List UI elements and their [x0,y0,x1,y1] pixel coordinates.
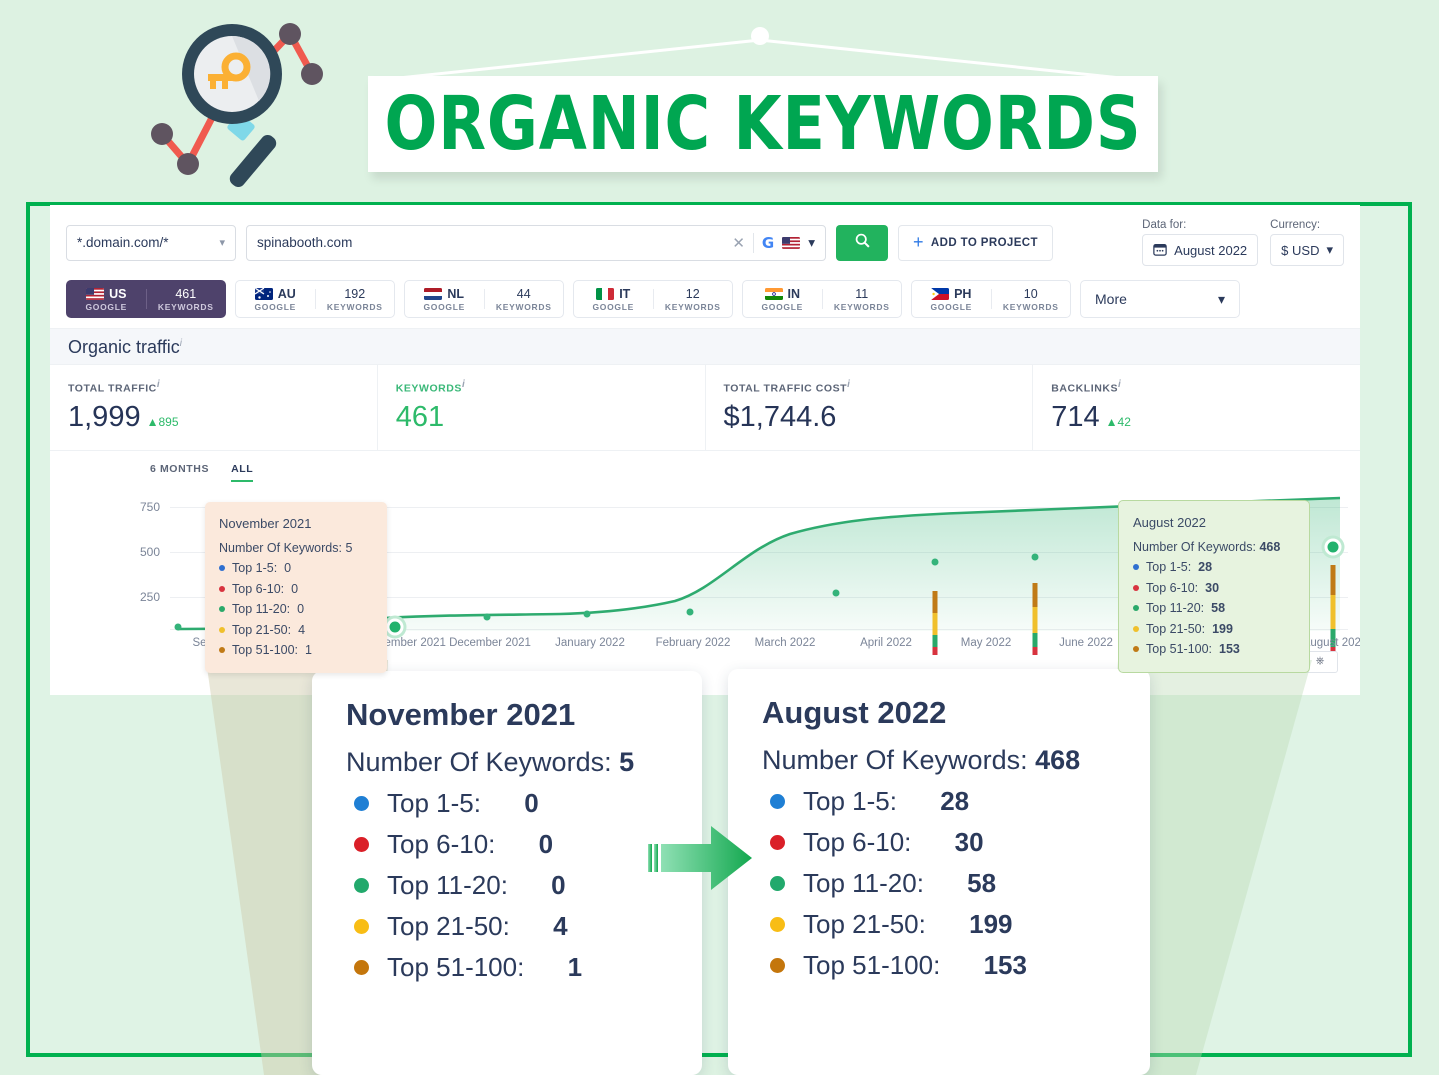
row-label: Top 51-100: [803,950,940,981]
row-label: Top 6-10: [1146,578,1198,599]
legend-dot-top-51-100 [219,647,225,653]
legend-dot-top-51-100 [770,958,785,973]
row-value: 4 [553,911,567,942]
data-point[interactable] [175,623,182,630]
callout-row: Top 1-5: 28 [770,786,1120,817]
row-label: Top 51-100: [1146,639,1212,660]
close-icon[interactable]: ✕ [732,234,745,252]
currency-value: $ USD [1281,243,1319,258]
callout-keywords-value: 468 [1035,745,1080,775]
country-code: IN [788,287,801,301]
more-label: More [1095,291,1127,307]
currency-select[interactable]: $ USD ▾ [1270,234,1344,266]
row-value: 0 [297,599,304,620]
row-value: 30 [1205,578,1219,599]
metric-card-backlinks: BACKLINKSi 714▲42 [1033,365,1360,450]
us-flag-icon [782,237,800,249]
add-to-project-label: ADD TO PROJECT [931,237,1038,249]
y-tick-250: 250 [128,590,160,604]
legend-dot-top-51-100 [354,960,369,975]
callout-card-november-2021: November 2021 Number Of Keywords: 5 Top … [312,671,702,1075]
row-label: Top 1-5: [1146,557,1191,578]
bar-segment [933,613,938,635]
data-point[interactable] [932,558,939,565]
row-label: Top 1-5: [803,786,897,817]
callout-row: Top 6-10: 0 [354,829,672,860]
tooltip-row: Top 11-20:0 [219,599,373,620]
legend-dot-top-6-10 [770,835,785,850]
country-code: NL [447,287,464,301]
x-label: June 2022 [1059,637,1113,649]
callout-month: August 2022 [762,695,1120,731]
data-for-label: Data for: [1142,219,1258,231]
search-toolbar: *.domain.com/* ▾ spinabooth.com ✕ G ▾ [50,205,1360,276]
row-value: 0 [524,788,538,819]
keyword-count: 192 [344,287,365,301]
row-value: 4 [298,620,305,641]
callout-row: Top 6-10: 30 [770,827,1120,858]
callout-month: November 2021 [346,697,672,733]
callout-row: Top 51-100: 153 [770,950,1120,981]
metric-label-text: TOTAL TRAFFIC [68,383,157,395]
tooltip-row: Top 51-100:1 [219,640,373,661]
engine-caption: GOOGLE [761,302,803,312]
metric-label-text: BACKLINKS [1051,383,1118,395]
tooltip-keywords-label: Number Of Keywords: [1133,540,1256,554]
engine-caption: GOOGLE [423,302,465,312]
row-label: Top 1-5: [387,788,481,819]
chart-range-tabs: 6 MONTHS ALL [50,461,1360,482]
metric-cards: TOTAL TRAFFICi 1,999▲895 KEYWORDSi 461 T… [50,364,1360,451]
legend-dot-top-6-10 [219,586,225,592]
data-point[interactable] [833,589,840,596]
keywords-caption: KEYWORDS [665,302,721,312]
metric-value-row: 1,999▲895 [68,401,359,434]
tooltip-row: Top 1-5:0 [219,558,373,579]
metric-card-total-traffic: TOTAL TRAFFICi 1,999▲895 [50,365,378,450]
country-tab-nl[interactable]: NL GOOGLE 44 KEYWORDS [404,280,564,318]
plus-icon: + [913,232,924,253]
metric-label: TOTAL TRAFFICi [68,379,359,395]
keyword-count: 11 [855,287,868,301]
callout-row: Top 51-100: 1 [354,952,672,983]
row-label: Top 21-50: [232,620,291,641]
metric-value: $1,744.6 [724,401,1015,434]
calendar-icon [1153,242,1167,259]
callout-row: Top 11-20: 58 [770,868,1120,899]
highlighted-data-point-aug-2022[interactable] [1325,538,1342,555]
row-label: Top 6-10: [232,579,284,600]
callout-row: Top 1-5: 0 [354,788,672,819]
metric-card-total-traffic-cost: TOTAL TRAFFIC COSTi $1,744.6 [706,365,1034,450]
y-tick-500: 500 [128,545,160,559]
legend-dot-top-11-20 [770,876,785,891]
tab-6-months[interactable]: 6 MONTHS [150,463,209,482]
metric-label: TOTAL TRAFFIC COSTi [724,379,1015,395]
tooltip-row: Top 6-10:0 [219,579,373,600]
metric-label-text: KEYWORDS [396,383,462,395]
row-label: Top 11-20: [803,868,924,899]
legend-dot-top-1-5 [354,796,369,811]
tab-all[interactable]: ALL [231,463,253,482]
row-label: Top 21-50: [1146,619,1205,640]
data-for-picker[interactable]: August 2022 [1142,234,1258,266]
metric-delta: ▲895 [147,415,179,429]
callout-keywords-label: Number Of Keywords: [762,745,1028,775]
tooltip-row: Top 21-50:199 [1133,619,1295,640]
keywords-caption: KEYWORDS [496,302,552,312]
legend-dot-top-11-20 [219,606,225,612]
right-arrow-icon [648,818,756,898]
page-title: ORGANIC KEYWORDS [431,76,1095,172]
data-point[interactable] [687,608,694,615]
x-label: August 2022 [1303,637,1360,649]
domain-input[interactable]: spinabooth.com [257,235,724,250]
country-tab-it[interactable]: IT GOOGLE 12 KEYWORDS [573,280,733,318]
metric-value-row: 714▲42 [1051,401,1342,434]
row-value: 1 [305,640,312,661]
keyword-count: 12 [686,287,700,301]
legend-dot-top-6-10 [1133,585,1139,591]
row-label: Top 21-50: [803,909,926,940]
chevron-down-icon: ▾ [1326,242,1333,258]
highlighted-data-point-nov-2021[interactable] [387,618,404,635]
data-point[interactable] [1032,553,1039,560]
legend-dot-top-21-50 [770,917,785,932]
data-point[interactable] [484,613,491,620]
row-label: Top 21-50: [387,911,510,942]
bar-segment [933,591,938,613]
row-value: 0 [284,558,291,579]
metric-delta-value: 895 [158,415,178,429]
callout-keywords-label: Number Of Keywords: [346,747,612,777]
chevron-down-icon: ▾ [1218,291,1225,308]
tooltip-row: Top 11-20:58 [1133,598,1295,619]
info-icon[interactable]: i [157,379,160,390]
metric-label: KEYWORDSi [396,379,687,395]
country-tab-ph[interactable]: PH GOOGLE 10 KEYWORDS [911,280,1071,318]
row-value: 153 [984,950,1027,981]
metric-value: 461 [396,401,687,434]
chevron-down-icon: ▾ [219,236,225,249]
row-value: 58 [967,868,996,899]
currency-label: Currency: [1270,219,1344,231]
country-tab-in[interactable]: IN GOOGLE 11 KEYWORDS [742,280,902,318]
legend-dot-top-11-20 [354,878,369,893]
country-tab-au[interactable]: AU GOOGLE 192 KEYWORDS [235,280,395,318]
x-label: January 2022 [555,637,625,649]
metric-label-text: TOTAL TRAFFIC COST [724,383,848,395]
country-code: IT [619,287,630,301]
bar-segment [1331,595,1336,629]
metric-delta-value: 42 [1118,415,1131,429]
metric-value: 714 [1051,401,1099,433]
engine-caption: GOOGLE [592,302,634,312]
search-icon [854,232,871,254]
callout-row: Top 21-50: 199 [770,909,1120,940]
au-flag-icon [255,288,273,300]
tooltip-keywords-value: 468 [1259,540,1280,554]
google-icon: G [762,234,774,252]
tooltip-keywords-label: Number Of Keywords: [219,541,342,555]
info-icon[interactable]: i [1118,379,1121,390]
tooltip-row: Top 6-10:30 [1133,578,1295,599]
info-icon[interactable]: i [180,338,182,349]
row-label: Top 11-20: [232,599,290,620]
tooltip-month: August 2022 [1133,513,1295,534]
it-flag-icon [596,288,614,300]
metric-card-keywords: KEYWORDSi 461 [378,365,706,450]
domain-scope-value: *.domain.com/* [77,235,169,250]
add-to-project-button[interactable]: + ADD TO PROJECT [898,225,1053,261]
section-title: Organic traffic [68,337,180,357]
keywords-caption: KEYWORDS [158,302,214,312]
y-tick-750: 750 [128,500,160,514]
row-value: 28 [1198,557,1212,578]
x-label: December 2021 [449,637,531,649]
row-label: Top 51-100: [387,952,524,983]
data-point[interactable] [584,610,591,617]
toolbar-right-meta: Data for: August 2022 Currency: $ USD ▾ [1142,219,1344,266]
tooltip-row: Top 51-100:153 [1133,639,1295,660]
info-icon[interactable]: i [462,379,465,390]
row-label: Top 51-100: [232,640,298,661]
row-label: Top 11-20: [1146,598,1204,619]
domain-input-group[interactable]: spinabooth.com ✕ G ▾ [246,225,826,261]
country-code: PH [954,287,971,301]
chevron-down-icon[interactable]: ▾ [808,235,815,251]
legend-dot-top-1-5 [219,565,225,571]
engine-caption: GOOGLE [254,302,296,312]
row-value: 28 [940,786,969,817]
engine-caption: GOOGLE [930,302,972,312]
row-value: 153 [1219,639,1240,660]
row-value: 0 [539,829,553,860]
nl-flag-icon [424,288,442,300]
country-code: AU [278,287,296,301]
row-value: 0 [551,870,565,901]
section-header: Organic traffici [50,328,1360,364]
row-label: Top 1-5: [232,558,277,579]
bar-segment [1033,607,1038,633]
legend-dot-top-51-100 [1133,646,1139,652]
banner: ORGANIC KEYWORDS [368,76,1158,172]
data-for-value: August 2022 [1174,243,1247,258]
keywords-caption: KEYWORDS [834,302,890,312]
keywords-caption: KEYWORDS [327,302,383,312]
metric-value: 1,999 [68,401,141,433]
callout-row: Top 21-50: 4 [354,911,672,942]
x-label: April 2022 [860,637,912,649]
keyword-count: 461 [175,287,196,301]
chart-tooltip-november-2021: November 2021 Number Of Keywords: 5 Top … [205,502,387,673]
bar-segment [1033,583,1038,607]
row-value: 199 [969,909,1012,940]
country-tabs: US GOOGLE 461 KEYWORDS AU GOOGLE 192 KEY… [50,276,1360,328]
row-value: 58 [1211,598,1225,619]
x-label: March 2022 [755,637,816,649]
us-flag-icon [86,288,104,300]
row-value: 0 [291,579,298,600]
x-label: May 2022 [961,637,1012,649]
x-label: February 2022 [656,637,731,649]
callout-keywords: Number Of Keywords: 468 [762,745,1120,776]
tooltip-keywords: Number Of Keywords: 5 [219,538,373,559]
in-flag-icon [765,288,783,300]
magnifying-glass-key-icon [150,12,330,187]
currency-group: Currency: $ USD ▾ [1270,219,1344,266]
more-countries-select[interactable]: More ▾ [1080,280,1240,318]
tooltip-month: November 2021 [219,514,373,535]
tooltip-row: Top 1-5:28 [1133,557,1295,578]
row-label: Top 11-20: [387,870,508,901]
legend-dot-top-11-20 [1133,605,1139,611]
legend-dot-top-1-5 [770,794,785,809]
tooltip-keywords-value: 5 [345,541,352,555]
callout-row: Top 11-20: 0 [354,870,672,901]
callout-card-august-2022: August 2022 Number Of Keywords: 468 Top … [728,669,1150,1075]
country-tab-us[interactable]: US GOOGLE 461 KEYWORDS [66,280,226,318]
row-value: 199 [1212,619,1233,640]
country-code: US [109,287,126,301]
info-icon[interactable]: i [847,379,850,390]
legend-dot-top-21-50 [219,627,225,633]
keywords-caption: KEYWORDS [1003,302,1059,312]
tooltip-keywords: Number Of Keywords: 468 [1133,537,1295,558]
ph-flag-icon [931,288,949,300]
callout-keywords: Number Of Keywords: 5 [346,747,672,778]
legend-dot-top-21-50 [1133,626,1139,632]
callout-keywords-value: 5 [619,747,634,777]
domain-scope-select[interactable]: *.domain.com/* ▾ [66,225,236,261]
tooltip-row: Top 21-50:4 [219,620,373,641]
metric-delta: ▲42 [1106,415,1131,429]
divider [753,233,754,253]
chart-tooltip-august-2022: August 2022 Number Of Keywords: 468 Top … [1118,500,1310,673]
row-value: 1 [568,952,582,983]
metric-label: BACKLINKSi [1051,379,1342,395]
search-button[interactable] [836,225,888,261]
legend-dot-top-6-10 [354,837,369,852]
keyword-count: 10 [1024,287,1038,301]
legend-dot-top-21-50 [354,919,369,934]
engine-caption: GOOGLE [85,302,127,312]
bar-segment [1331,565,1336,595]
row-label: Top 6-10: [387,829,495,860]
legend-dot-top-1-5 [1133,564,1139,570]
row-label: Top 6-10: [803,827,911,858]
keyword-count: 44 [517,287,531,301]
row-value: 30 [955,827,984,858]
data-for-group: Data for: August 2022 [1142,219,1258,266]
